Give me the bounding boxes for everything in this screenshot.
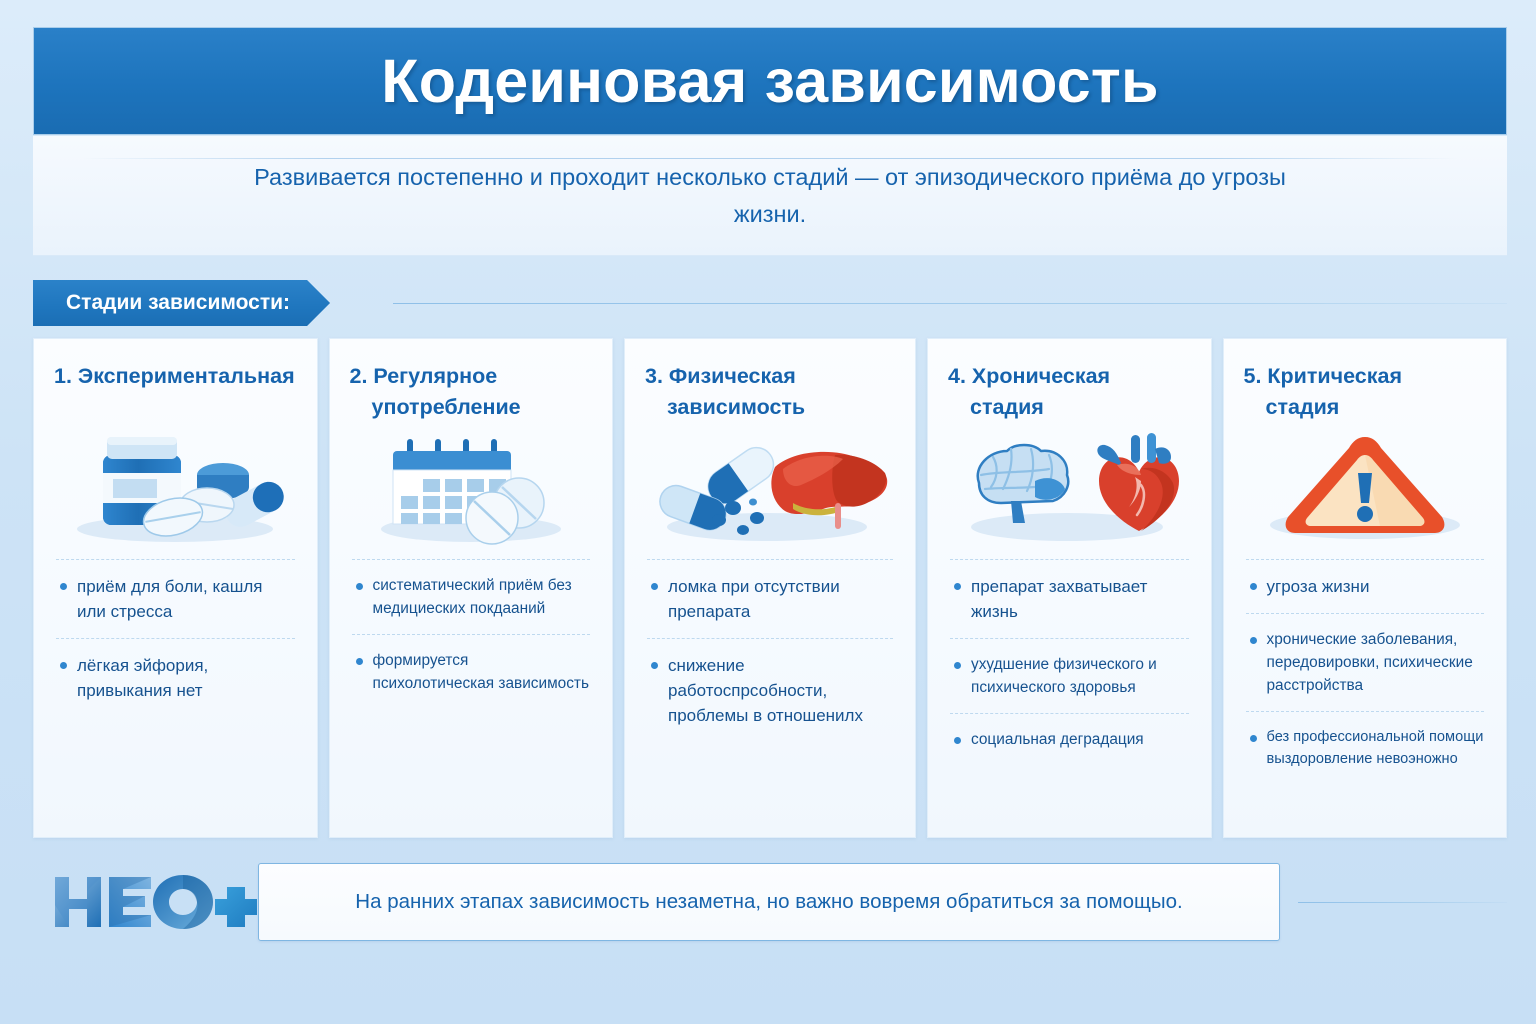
calendar-pills-icon [350,425,593,545]
stage-cards: 1. Экспериментальная [33,338,1507,838]
stage-card-4: 4. Хроническая стадия [927,338,1212,838]
bullet-dot-icon [60,662,67,669]
stage-card-4-title-line1: 4. Хроническая [948,364,1110,388]
pill-bottle-icon [54,425,297,545]
section-badge-label: Стадии зависимости: [66,291,290,315]
bullet-text: ухудшение физического и психического здо… [971,653,1189,699]
stage-card-2-title: 2. Регулярное употребление [350,361,593,423]
stage-card-2-title-line1: 2. Регулярное [350,364,498,388]
bullet-dot-icon [651,662,658,669]
footer-note-text: На ранних этапах зависимость незаметна, … [355,890,1182,914]
neo-plus-logo [47,865,257,937]
bullet-text: приём для боли, кашля или стресса [77,574,295,624]
list-item: систематический приём без медициеских по… [350,560,593,634]
stage-card-4-title-line2: стадия [948,392,1191,423]
bullet-dot-icon [651,583,658,590]
stage-card-5-bullets: угроза жизни хронические заболевания, пе… [1244,559,1487,784]
subtitle-text: Развивается постепенно и проходит нескол… [245,159,1295,233]
stage-card-4-title: 4. Хроническая стадия [948,361,1191,423]
stage-card-2-title-line2: употребление [350,392,593,423]
warning-triangle-icon [1244,425,1487,545]
stage-card-5-title-line1: 5. Критическая [1244,364,1403,388]
bullet-text: снижение работоспрсобности, проблемы в о… [668,653,893,728]
stage-card-3-title-line1: 3. Физическая [645,364,796,388]
capsule-liver-icon [645,425,895,545]
bullet-text: лёгкая эйфория, привыкания нет [77,653,295,703]
stage-card-1: 1. Экспериментальная [33,338,318,838]
bullet-text: без профессиональной помощи выздоровлени… [1267,726,1485,770]
list-item: ухудшение физического и психического здо… [948,639,1191,713]
bullet-text: препарат захватывает жизнь [971,574,1189,624]
stage-card-2: 2. Регулярное употребление [329,338,614,838]
stage-card-5: 5. Критическая стадия угроза жизни [1223,338,1508,838]
stage-card-3: 3. Физическая зависимость [624,338,916,838]
stage-card-2-bullets: систематический приём без медициеских по… [350,559,593,709]
list-item: социальная деградация [948,714,1191,765]
stage-card-3-bullets: ломка при отсутствии препарата снижение … [645,559,895,742]
bullet-dot-icon [954,737,961,744]
bullet-text: хронические заболевания, передовировки, … [1267,628,1485,697]
bullet-dot-icon [356,658,363,665]
stage-card-1-title: 1. Экспериментальная [54,361,297,423]
footer-divider-line [1298,902,1507,903]
bullet-dot-icon [954,583,961,590]
list-item: лёгкая эйфория, привыкания нет [54,639,297,717]
stage-card-5-title-line2: стадия [1244,392,1487,423]
bullet-dot-icon [954,662,961,669]
header-bar: Кодеиновая зависимость [33,27,1507,135]
bullet-dot-icon [1250,637,1257,644]
bullet-text: формируется психолотическая зависимость [373,649,591,695]
section-divider-line [393,303,1507,304]
bullet-text: систематический приём без медициеских по… [373,574,591,620]
subtitle-panel: Развивается постепенно и проходит нескол… [33,136,1507,256]
list-item: снижение работоспрсобности, проблемы в о… [645,639,895,742]
list-item: угроза жизни [1244,560,1487,613]
section-strip: Стадии зависимости: [33,280,1507,326]
list-item: препарат захватывает жизнь [948,560,1191,638]
bullet-text: ломка при отсутствии препарата [668,574,893,624]
bullet-text: угроза жизни [1267,574,1370,599]
stage-card-1-title-line1: 1. Экспериментальная [54,364,295,388]
stage-card-3-title: 3. Физическая зависимость [645,361,895,423]
infographic-poster: Кодеиновая зависимость Развивается посте… [0,0,1536,1024]
list-item: формируется психолотическая зависимость [350,635,593,709]
brain-heart-icon [948,425,1191,545]
footer-note-banner: На ранних этапах зависимость незаметна, … [258,863,1280,941]
footer: На ранних этапах зависимость незаметна, … [33,855,1507,955]
stage-card-5-title: 5. Критическая стадия [1244,361,1487,423]
page-title: Кодеиновая зависимость [381,46,1158,116]
list-item: приём для боли, кашля или стресса [54,560,297,638]
list-item: без профессиональной помощи выздоровлени… [1244,712,1487,784]
stage-card-4-bullets: препарат захватывает жизнь ухудшение физ… [948,559,1191,765]
bullet-dot-icon [1250,583,1257,590]
bullet-text: социальная деградация [971,728,1144,751]
list-item: хронические заболевания, передовировки, … [1244,614,1487,711]
bullet-dot-icon [356,583,363,590]
stage-card-3-title-line2: зависимость [645,392,895,423]
bullet-dot-icon [60,583,67,590]
stage-card-1-bullets: приём для боли, кашля или стресса лёгкая… [54,559,297,717]
bullet-dot-icon [1250,735,1257,742]
section-badge: Стадии зависимости: [33,280,330,326]
list-item: ломка при отсутствии препарата [645,560,895,638]
